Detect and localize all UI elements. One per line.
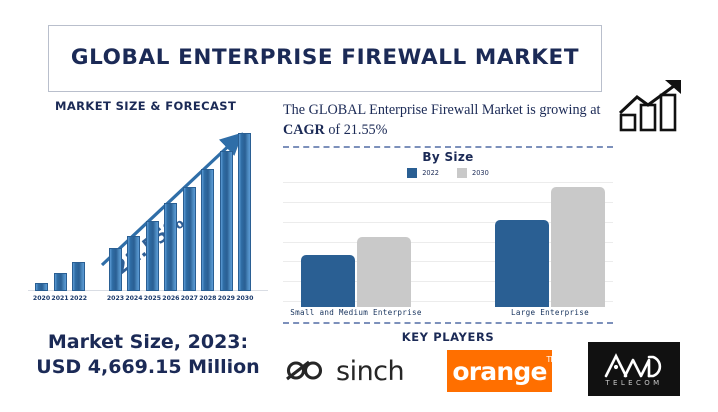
page-title-box: GLOBAL ENTERPRISE FIREWALL MARKET	[48, 25, 602, 92]
cagr-summary-bold: CAGR	[283, 122, 325, 138]
legend-swatch	[407, 168, 417, 178]
market-size-forecast-heading: MARKET SIZE & FORECAST	[55, 99, 236, 113]
cagr-summary-prefix: The GLOBAL Enterprise Firewall Market is…	[283, 102, 600, 118]
logo-orange: orangeTM	[447, 350, 552, 392]
left-chart-bar	[183, 187, 196, 291]
left-chart-bar	[54, 273, 67, 291]
growth-bar-chart-arrow-icon	[615, 78, 693, 133]
by-size-bar	[551, 187, 605, 307]
key-players-title: KEY PLAYERS	[283, 330, 613, 344]
infographic-page: GLOBAL ENTERPRISE FIREWALL MARKET MARKET…	[0, 0, 718, 412]
by-size-bar	[495, 220, 549, 307]
cagr-summary: The GLOBAL Enterprise Firewall Market is…	[283, 100, 605, 140]
left-chart-bar	[72, 262, 85, 291]
legend-swatch	[457, 168, 467, 178]
legend-label: 2030	[472, 169, 489, 177]
left-chart-bar	[35, 283, 48, 291]
by-size-bar	[357, 237, 411, 307]
left-chart-bar	[109, 248, 122, 291]
cagr-summary-value: 21.55%	[344, 122, 388, 138]
by-size-title: By Size	[283, 150, 613, 164]
legend-item[interactable]: 2030	[457, 168, 489, 178]
orange-wordmark: orangeTM	[452, 357, 546, 386]
orange-tm: TM	[546, 355, 556, 364]
left-chart-year-label: 2022	[66, 295, 92, 302]
logo-amd-telecom: TELECOM	[588, 342, 680, 396]
by-size-chart: Small and Medium EnterpriseLarge Enterpr…	[283, 182, 613, 307]
left-chart-bar	[238, 133, 251, 291]
market-size-amount: USD 4,669.15 Million	[28, 355, 268, 380]
divider-top	[283, 146, 613, 148]
sinch-infinity-mark-icon	[283, 357, 329, 385]
by-size-category-label: Large Enterprise	[473, 308, 627, 317]
gridline	[283, 182, 613, 183]
left-chart-bar	[220, 151, 233, 291]
by-size-legend: 20222030	[283, 168, 613, 178]
market-size-label: Market Size, 2023:	[28, 330, 268, 355]
left-chart-year-label: 2030	[232, 295, 258, 302]
legend-label: 2022	[422, 169, 439, 177]
market-size-forecast-chart: 21.55% 202020212022202320242025202620272…	[28, 125, 268, 307]
page-title: GLOBAL ENTERPRISE FIREWALL MARKET	[71, 44, 579, 72]
sinch-wordmark: sinch	[336, 356, 404, 387]
market-size-value: Market Size, 2023: USD 4,669.15 Million	[28, 330, 268, 381]
left-chart-bar	[146, 221, 159, 291]
left-chart-bar	[127, 236, 140, 291]
divider-bottom	[283, 322, 613, 324]
left-chart-bar	[201, 169, 214, 291]
logo-sinch: sinch	[283, 347, 433, 395]
orange-text: orange	[452, 357, 546, 386]
by-size-category-label: Small and Medium Enterprise	[279, 308, 433, 317]
amd-wordmark-icon	[603, 352, 665, 378]
amd-telecom-subtext: TELECOM	[605, 379, 662, 387]
left-chart-bar	[164, 203, 177, 291]
legend-item[interactable]: 2022	[407, 168, 439, 178]
by-size-bar	[301, 255, 355, 307]
cagr-summary-mid: of	[325, 122, 344, 138]
